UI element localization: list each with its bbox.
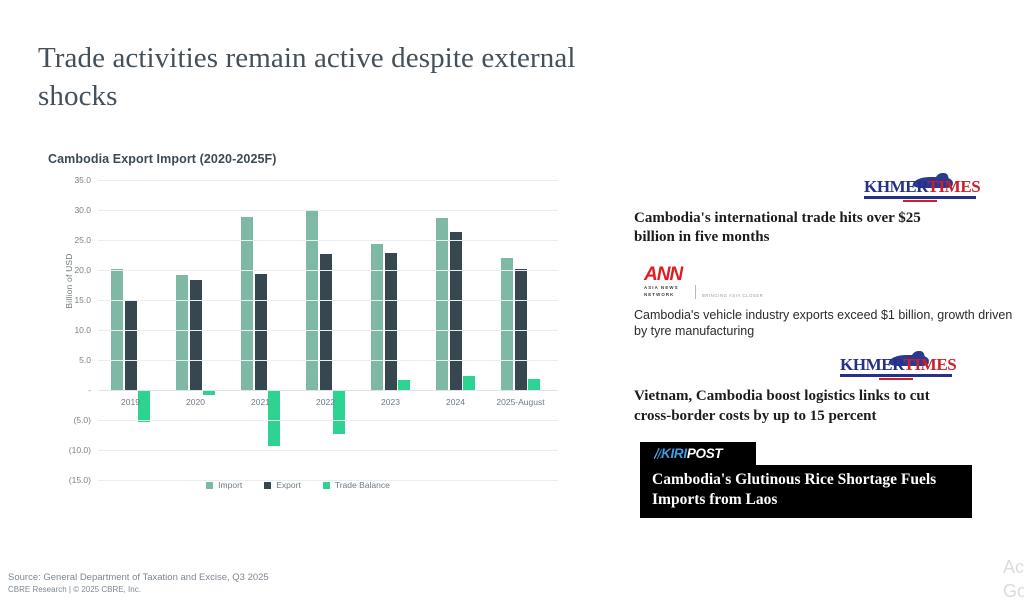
chart-bar-import — [371, 244, 383, 390]
ann-logo-subline-2: NETWORK — [644, 292, 691, 299]
chart-bar-export — [385, 253, 397, 390]
chart-bar-import — [501, 258, 513, 390]
news-item[interactable]: ANN ASIA NEWS NETWORK BRINGING ASIA CLOS… — [634, 265, 1024, 340]
ann-logo-word: ANN — [644, 265, 696, 284]
news-list: KHMERTIMES Cambodia's international trad… — [634, 178, 1024, 518]
kiripost-swoosh-icon — [651, 448, 663, 459]
chart-gridline: 30.0 — [98, 210, 558, 211]
footer-source: Source: General Department of Taxation a… — [8, 572, 269, 583]
legend-label: Import — [218, 480, 242, 490]
legend-item[interactable]: Import — [206, 480, 242, 490]
kiripost-logo-post: POST — [687, 446, 723, 461]
y-axis-tick: 20.0 — [74, 265, 91, 275]
x-axis-tick: 2020 — [186, 397, 205, 407]
x-axis-tick: 2025-August — [496, 397, 544, 407]
news-headline[interactable]: Vietnam, Cambodia boost logistics links … — [634, 387, 944, 425]
chart-zero-baseline — [98, 390, 558, 391]
khmer-times-rule-red — [879, 378, 913, 381]
khmer-times-logo-times: TIMES — [904, 355, 957, 374]
watermark-text: Ac Go — [1003, 556, 1024, 604]
khmer-times-rule-blue — [864, 196, 976, 199]
khmer-times-logo-times: TIMES — [928, 177, 981, 196]
chart-bar-trade-balance — [463, 376, 475, 390]
footer-copyright: CBRE Research | © 2025 CBRE, Inc. — [8, 585, 269, 594]
chart-plot-area: Billion of USD 2019202020212022202320242… — [38, 180, 558, 480]
y-axis-tick: 30.0 — [74, 205, 91, 215]
khmer-times-logo-khmer: KHMER — [840, 355, 904, 374]
khmer-times-logo-khmer: KHMER — [864, 177, 928, 196]
chart-gridline: 5.0 — [98, 360, 558, 361]
chart-bar-import — [436, 218, 448, 390]
chart-title: Cambodia Export Import (2020-2025F) — [48, 152, 558, 166]
ann-logo-tagline: BRINGING ASIA CLOSER — [702, 293, 763, 299]
chart-gridline: (5.0) — [98, 420, 558, 421]
x-axis-tick: 2019 — [121, 397, 140, 407]
chart-canvas: 2019202020212022202320242025-August 35.0… — [98, 180, 558, 480]
y-axis-tick: 35.0 — [74, 175, 91, 185]
khmer-times-rule-blue — [840, 374, 952, 377]
y-axis-tick: 10.0 — [74, 325, 91, 335]
page-title: Trade activities remain active despite e… — [38, 40, 578, 115]
chart-bar-trade-balance — [398, 380, 410, 390]
legend-label: Trade Balance — [335, 480, 390, 490]
news-headline[interactable]: Cambodia's international trade hits over… — [634, 209, 964, 247]
watermark-line-2: Go — [1003, 580, 1024, 604]
chart-gridline: 15.0 — [98, 300, 558, 301]
legend-swatch — [264, 482, 271, 489]
chart-gridline: 10.0 — [98, 330, 558, 331]
chart-bar-export — [190, 280, 202, 390]
chart-bar-export — [450, 232, 462, 390]
x-axis-tick: 2022 — [316, 397, 335, 407]
khmer-times-rule-red — [903, 200, 937, 203]
chart-bar-import — [241, 217, 253, 390]
y-axis-label: Billion of USD — [64, 226, 74, 336]
chart-gridline: (10.0) — [98, 450, 558, 451]
legend-label: Export — [276, 480, 301, 490]
y-axis-tick: - — [88, 385, 91, 395]
chart-bar-import — [176, 275, 188, 390]
chart-bar-export — [125, 301, 137, 390]
y-axis-tick: (5.0) — [74, 415, 91, 425]
x-axis-tick: 2023 — [381, 397, 400, 407]
watermark-line-1: Ac — [1003, 556, 1024, 580]
ann-logo: ANN ASIA NEWS NETWORK BRINGING ASIA CLOS… — [644, 265, 1024, 298]
chart-legend: ImportExportTrade Balance — [38, 480, 558, 490]
x-axis-tick: 2024 — [446, 397, 465, 407]
y-axis-tick: (10.0) — [69, 445, 91, 455]
chart-container: Cambodia Export Import (2020-2025F) Bill… — [38, 152, 558, 542]
legend-item[interactable]: Export — [264, 480, 301, 490]
kiripost-logo: KIRIPOST — [640, 442, 756, 466]
chart-gridline: 35.0 — [98, 180, 558, 181]
chart-bar-export — [320, 254, 332, 390]
legend-swatch — [206, 482, 213, 489]
kiripost-logo-kiri: KIRI — [661, 446, 687, 461]
news-item[interactable]: KIRIPOST Cambodia's Glutinous Rice Short… — [640, 442, 1024, 518]
footer: Source: General Department of Taxation a… — [8, 572, 269, 594]
khmer-times-logo: KHMERTIMES — [634, 178, 1024, 202]
chart-bar-export — [255, 274, 267, 390]
y-axis-tick: 5.0 — [79, 355, 91, 365]
legend-item[interactable]: Trade Balance — [323, 480, 390, 490]
khmer-times-logo: KHMERTIMES — [634, 356, 1024, 380]
y-axis-tick: 15.0 — [74, 295, 91, 305]
chart-gridline: 25.0 — [98, 240, 558, 241]
ann-logo-subline-1: ASIA NEWS — [644, 285, 691, 292]
legend-swatch — [323, 482, 330, 489]
news-item[interactable]: KHMERTIMES Vietnam, Cambodia boost logis… — [634, 356, 1024, 425]
y-axis-tick: 25.0 — [74, 235, 91, 245]
news-headline[interactable]: Cambodia's vehicle industry exports exce… — [634, 307, 1024, 341]
news-headline[interactable]: Cambodia's Glutinous Rice Shortage Fuels… — [640, 465, 972, 517]
news-item[interactable]: KHMERTIMES Cambodia's international trad… — [634, 178, 1024, 247]
chart-bar-trade-balance — [528, 379, 540, 390]
x-axis-tick: 2021 — [251, 397, 270, 407]
chart-gridline: 20.0 — [98, 270, 558, 271]
